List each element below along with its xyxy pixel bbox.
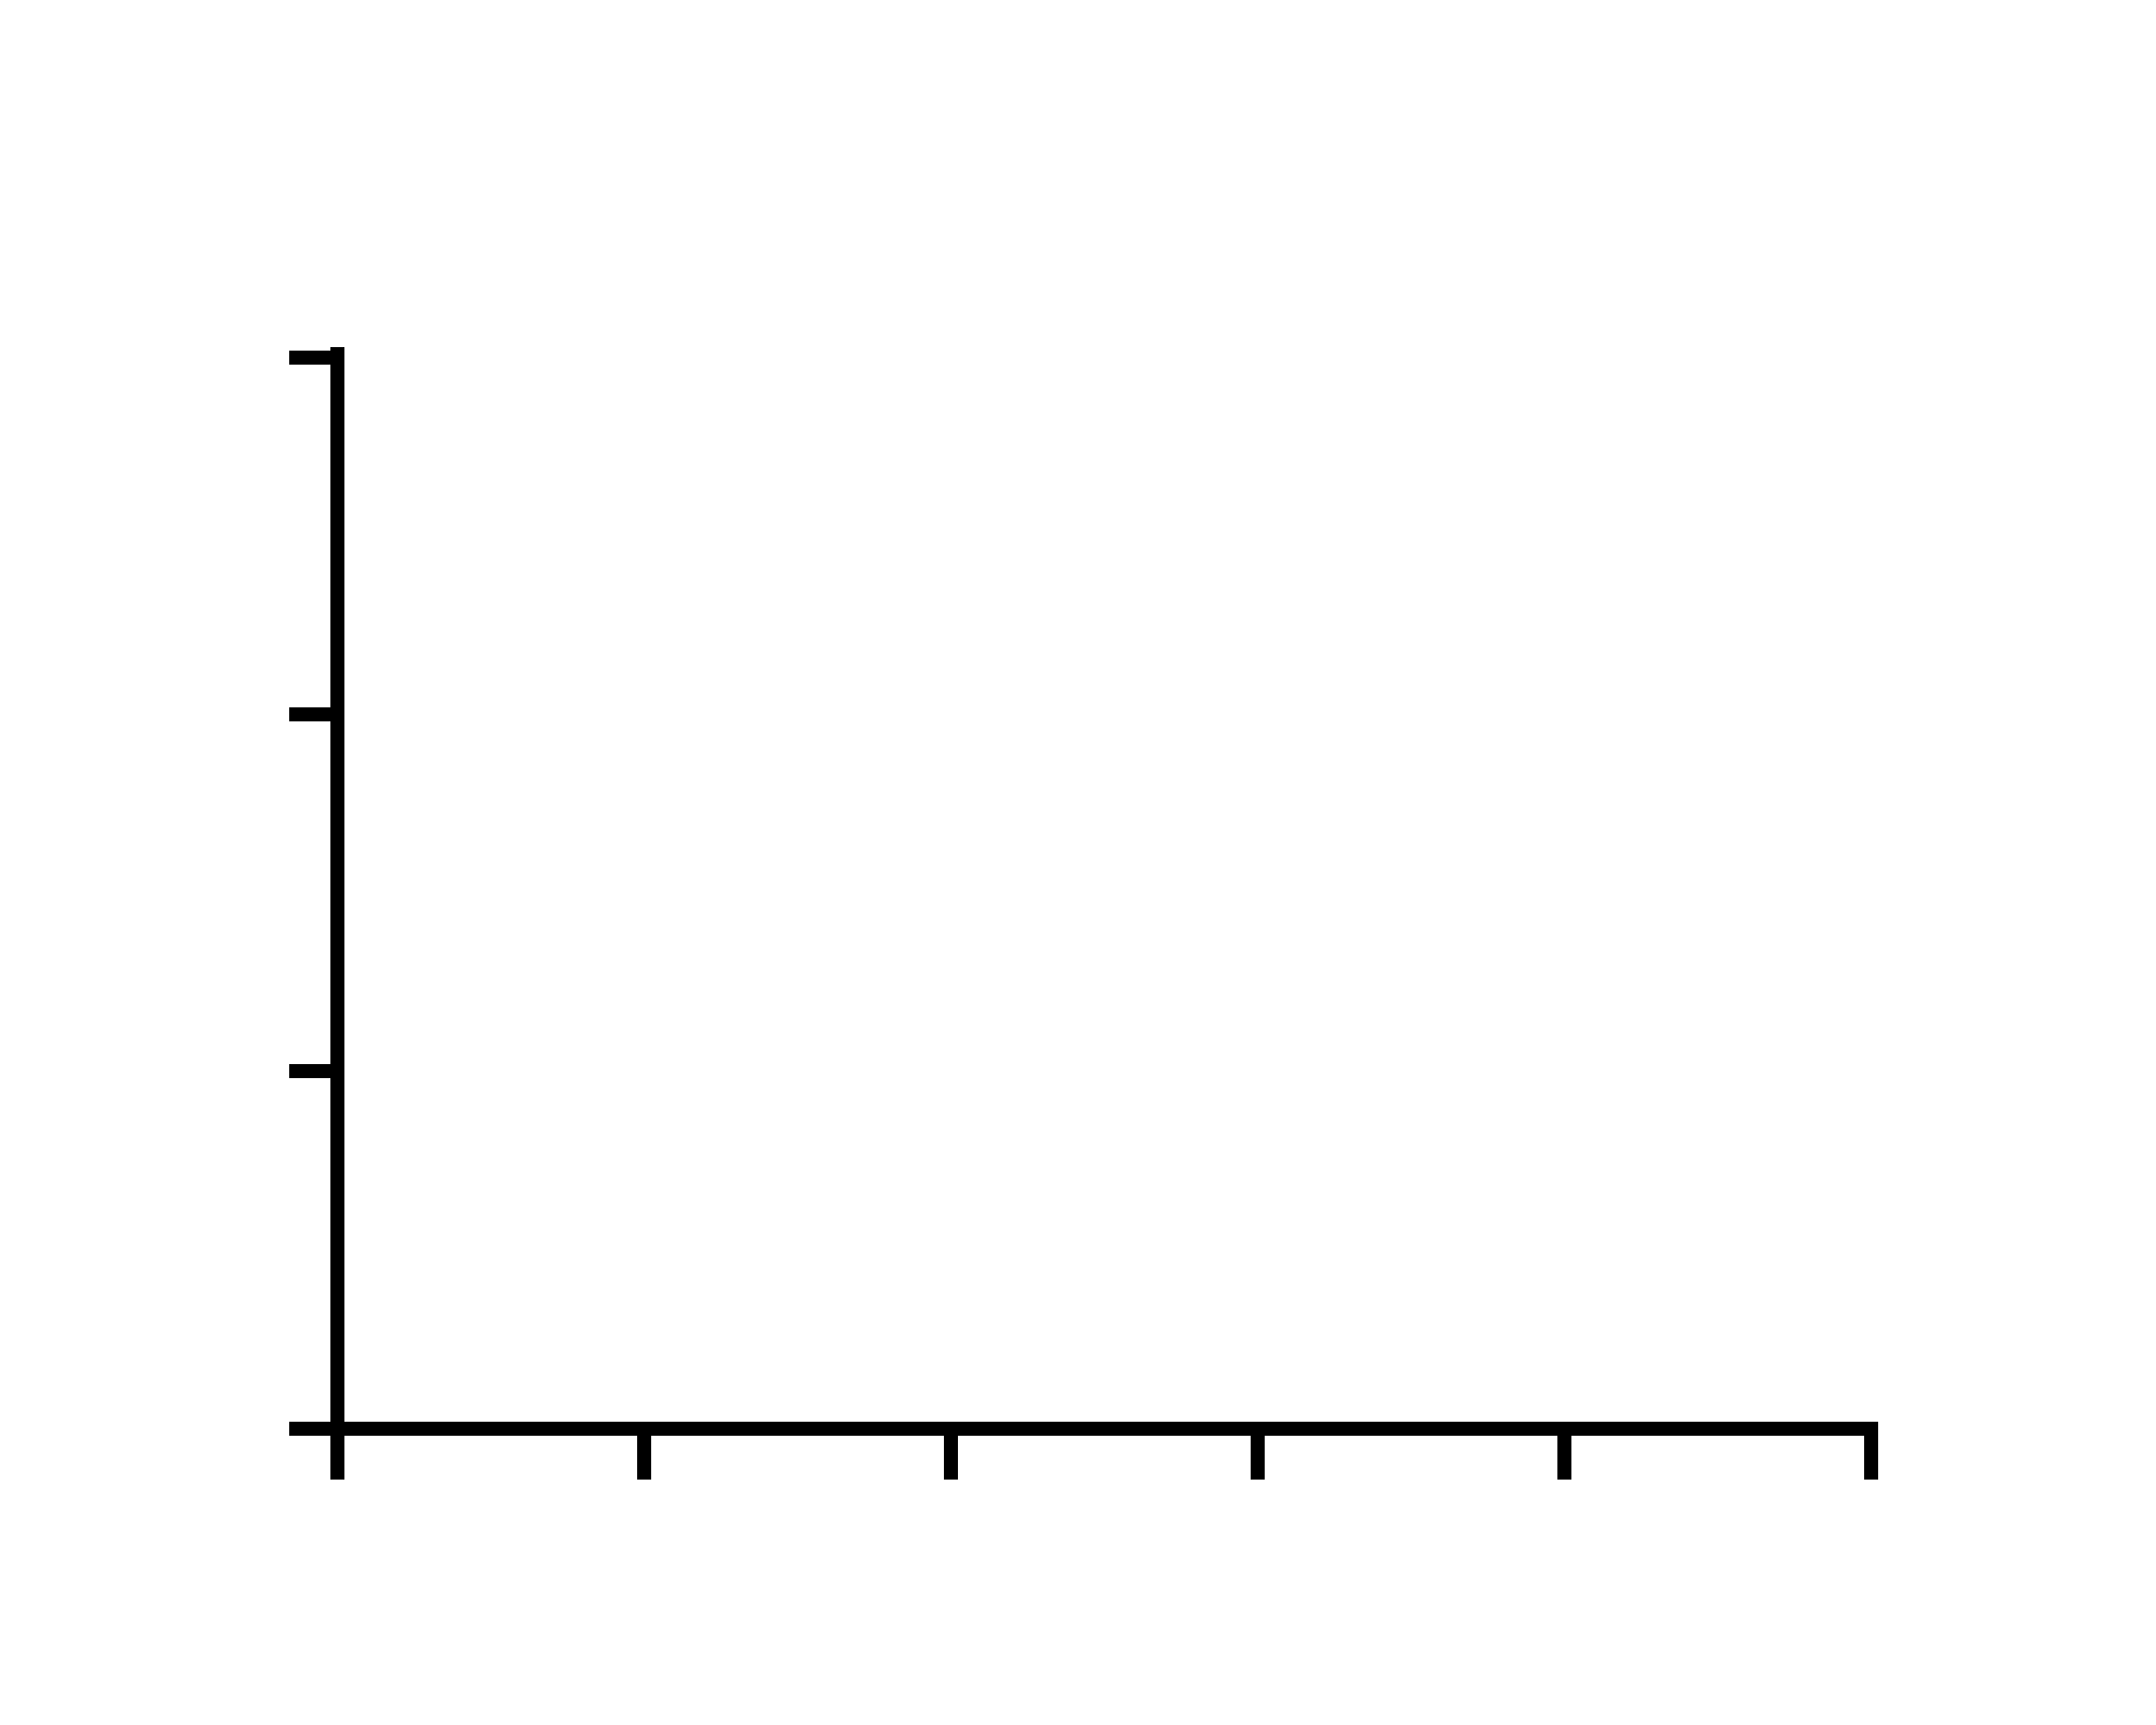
chart-figure: [0, 0, 2156, 1725]
plot-area: [0, 0, 2156, 1725]
y-axis-ticks: [289, 358, 337, 1429]
axis-spines: [330, 347, 1878, 1434]
x-axis-ticks: [337, 1429, 1871, 1480]
